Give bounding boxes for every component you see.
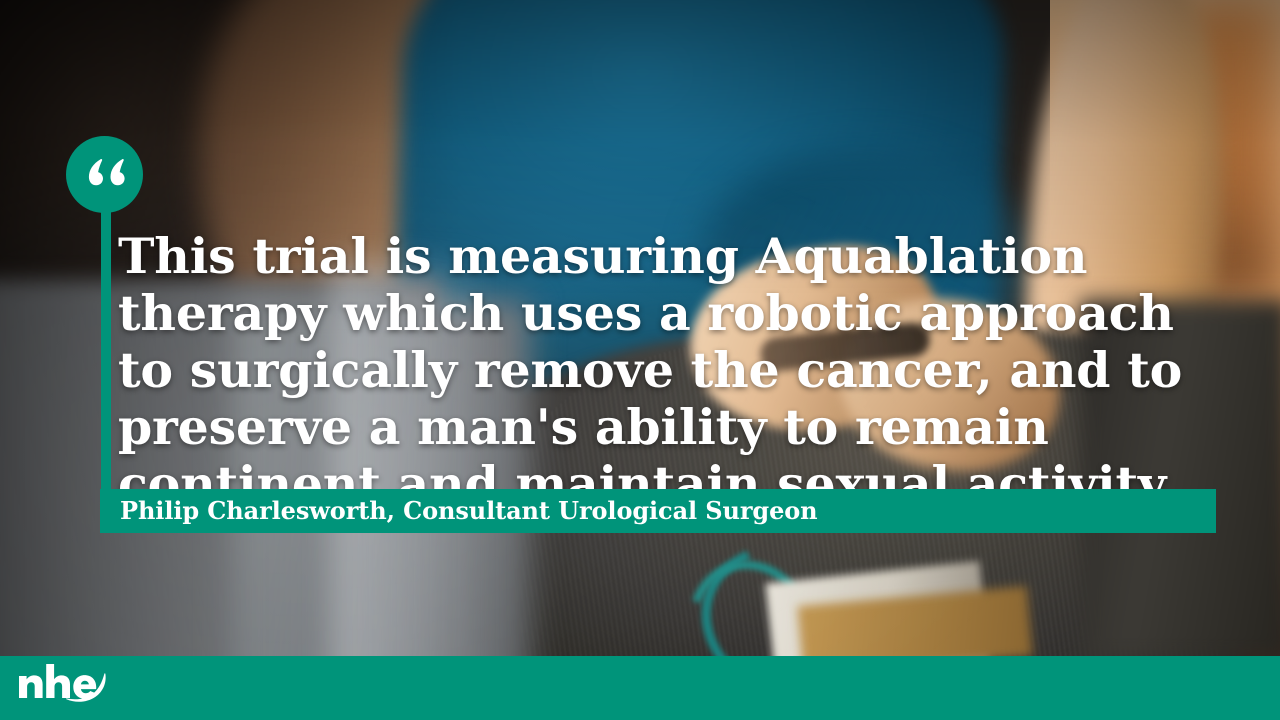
attribution-text: Philip Charlesworth, Consultant Urologic… [100, 499, 818, 523]
attribution-bar: Philip Charlesworth, Consultant Urologic… [100, 489, 1216, 533]
quote-text: This trial is measuring Aquablation ther… [118, 228, 1208, 513]
quotation-mark-icon [82, 158, 128, 192]
footer-bar [0, 656, 1280, 720]
quote-card-graphic: This trial is measuring Aquablation ther… [0, 0, 1280, 720]
nhe-logo [16, 660, 116, 708]
accent-vertical-rule [101, 200, 111, 532]
